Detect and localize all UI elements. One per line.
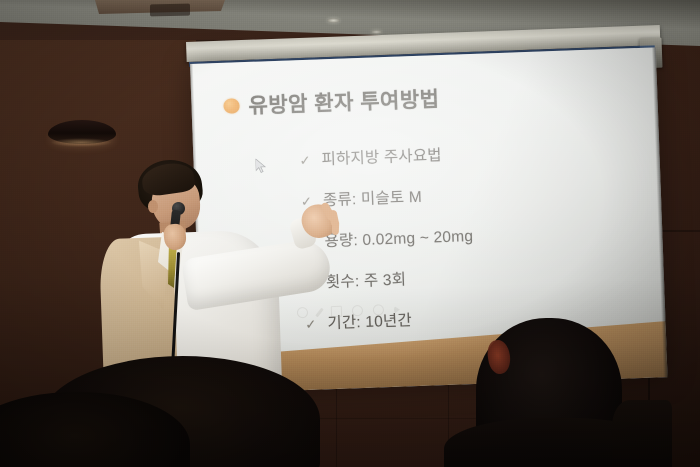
slide-bullet-item: ✓ 횟수: 주 3회	[303, 259, 634, 293]
ceiling-downlight-2	[371, 30, 382, 34]
lecture-hall-photo: 유방암 환자 투여방법 ✓ 피하지방 주사요법 ✓ 종류: 미슬토 M ✓ 용량…	[0, 0, 700, 467]
slide-bullet-text: 용량: 0.02mg ~ 20mg	[324, 224, 473, 251]
slide-bullet-item: ✓ 용량: 0.02mg ~ 20mg	[302, 218, 633, 252]
ceiling-hatch-opening	[150, 4, 190, 17]
slide-bullet-text: 피하지방 주사요법	[321, 143, 442, 169]
menu-icon[interactable]	[373, 304, 384, 315]
title-bullet-icon	[223, 98, 240, 114]
next-slide-icon[interactable]	[394, 305, 400, 313]
ceiling-downlight-1	[327, 18, 340, 23]
slide-title-row: 유방암 환자 투여방법	[223, 83, 440, 121]
wall-sconce-glow	[50, 138, 112, 147]
slide-bullet-item: ✓ 종류: 미슬토 M	[301, 177, 632, 211]
pointer-icon[interactable]	[352, 305, 363, 316]
slide-title-text: 유방암 환자 투여방법	[248, 83, 440, 120]
presenter-finger	[332, 220, 340, 235]
slide-bullet-text: 종류: 미슬토 M	[323, 185, 423, 211]
presenter-ear	[148, 200, 158, 213]
audience-silhouette-far-right	[612, 400, 672, 467]
slide-bullet-list: ✓ 피하지방 주사요법 ✓ 종류: 미슬토 M ✓ 용량: 0.02mg ~ 2…	[299, 136, 635, 334]
slide-bullet-text: 횟수: 주 3회	[326, 267, 407, 292]
slide-bullet-item: ✓ 피하지방 주사요법	[299, 136, 630, 170]
